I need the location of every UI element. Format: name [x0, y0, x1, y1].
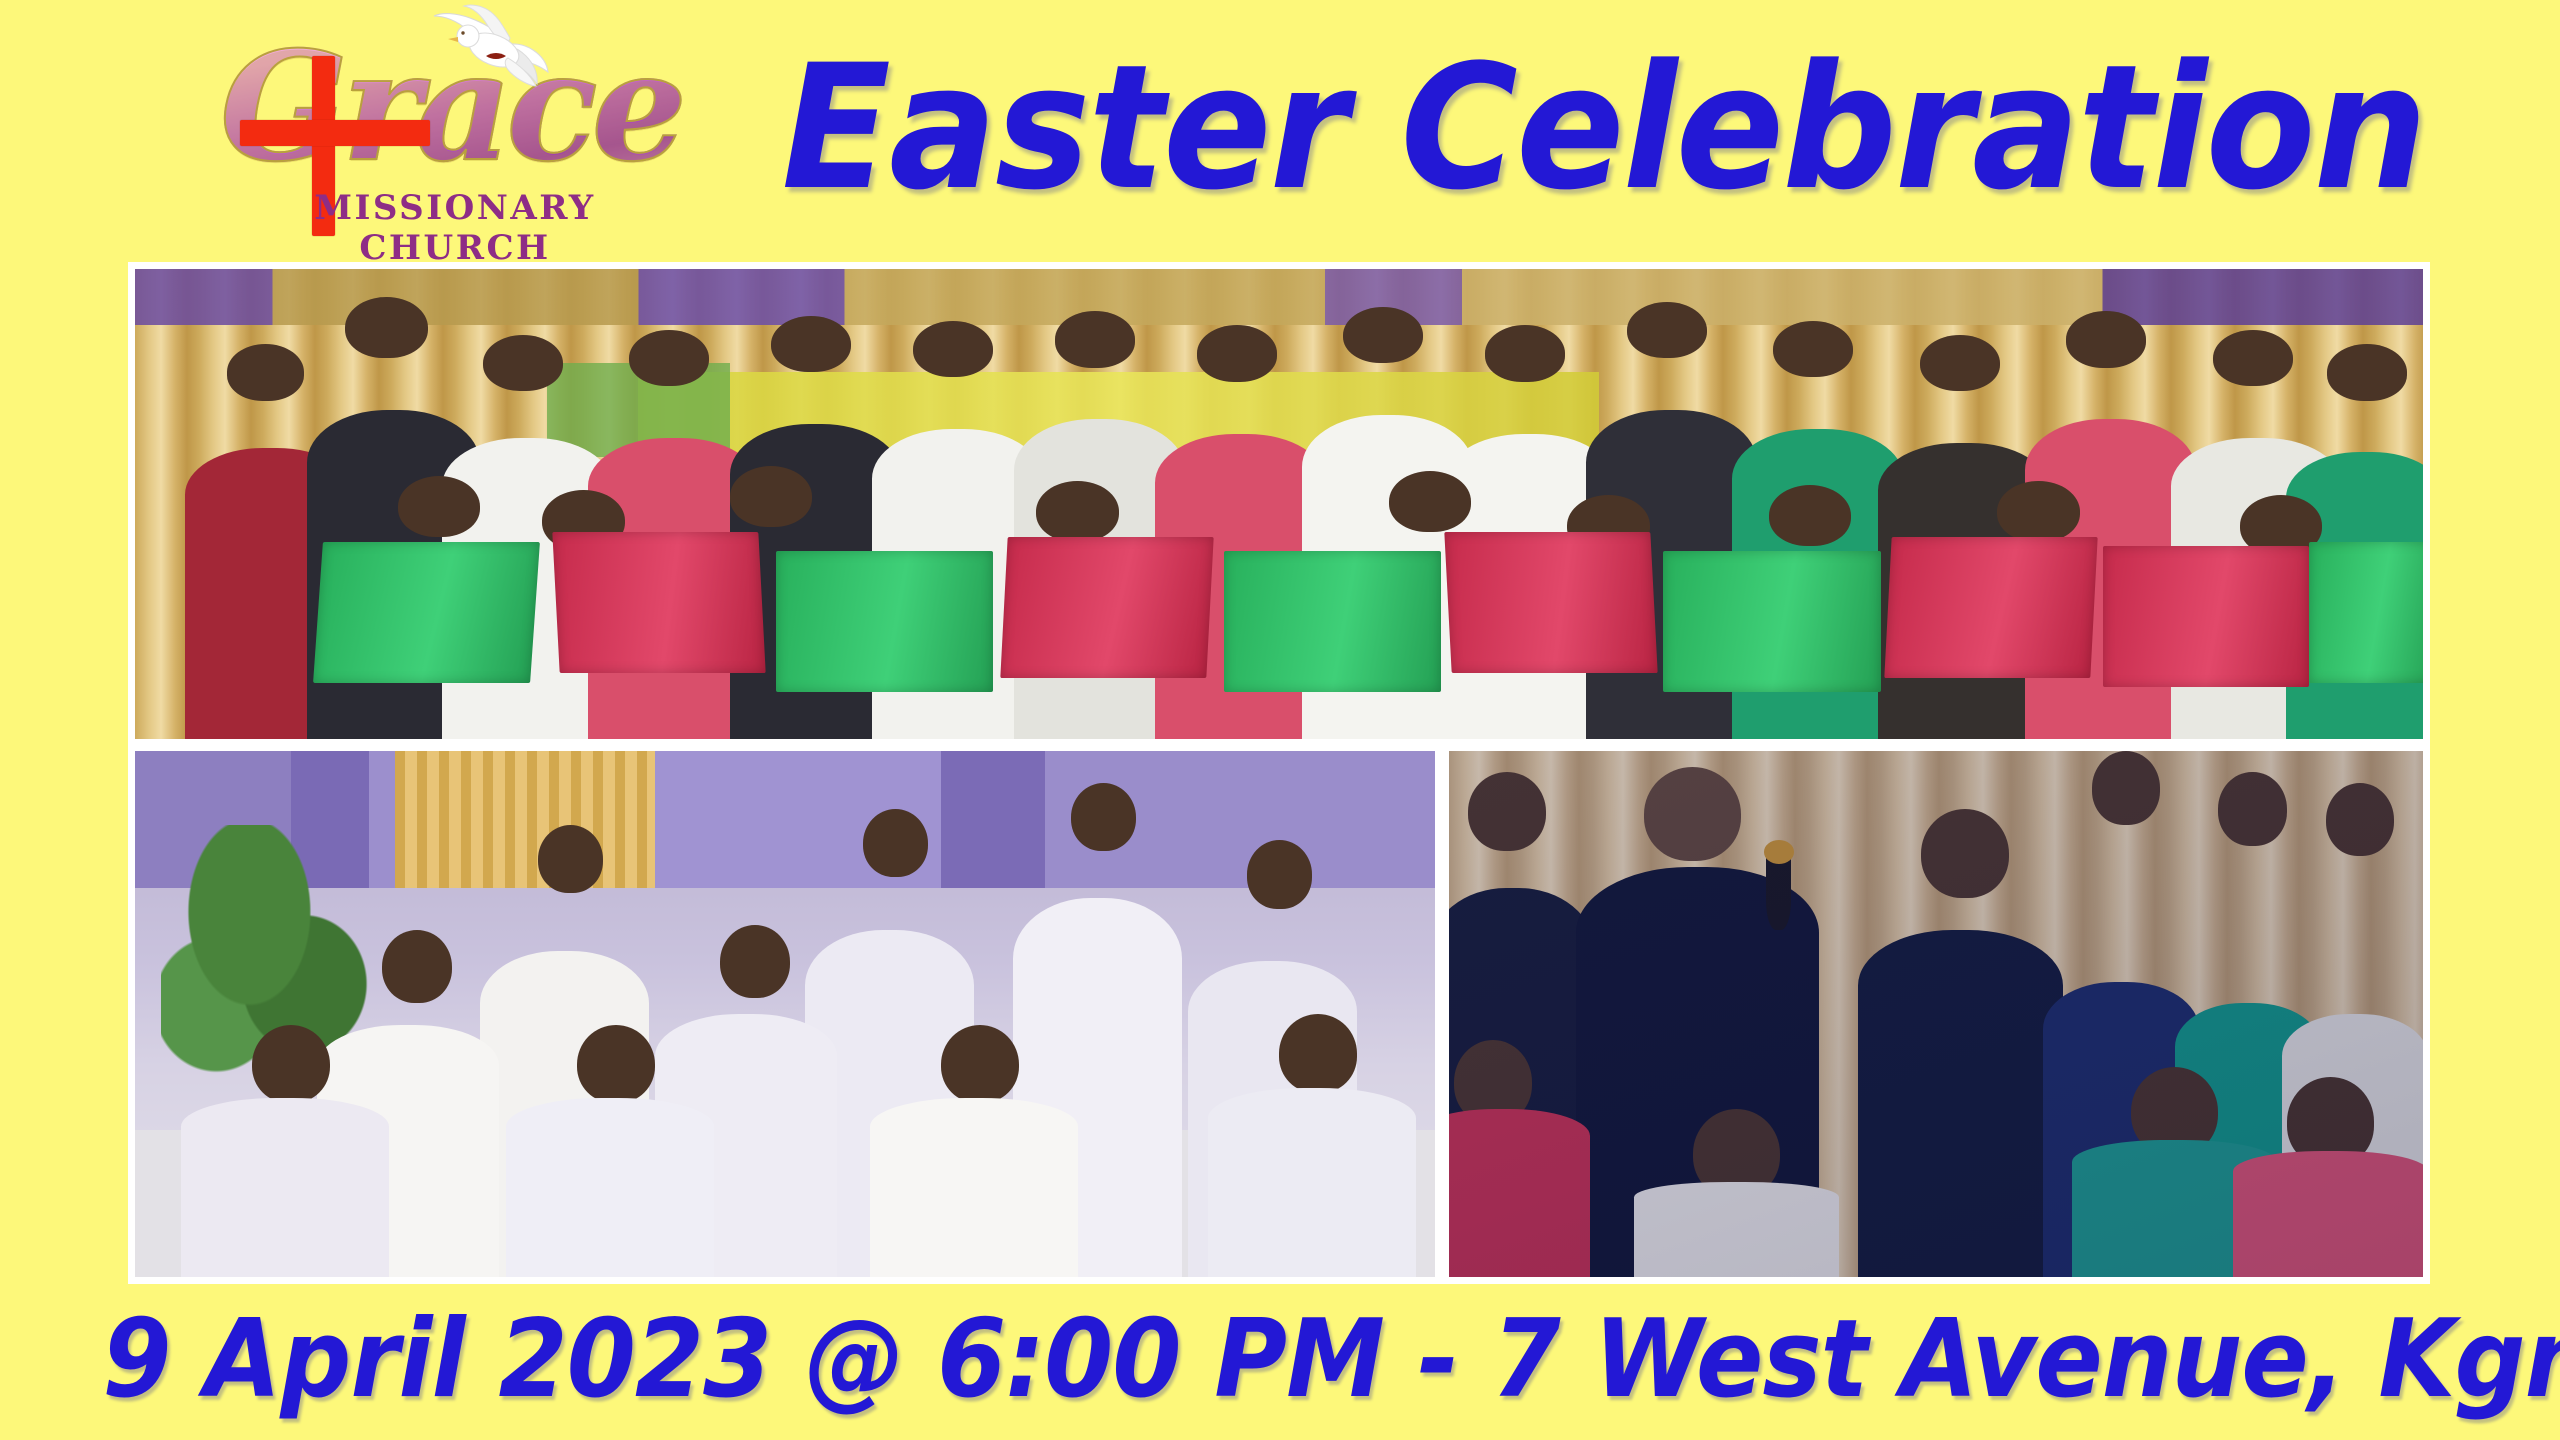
event-details: 9 April 2023 @ 6:00 PM - 7 West Avenue, … — [102, 1296, 2457, 1424]
logo-wordmark: Grace — [220, 12, 690, 202]
easter-celebration-flyer: Grace MISSIONARY CHURCH Easter Celebrati… — [0, 0, 2560, 1440]
cross-icon-crossbar — [240, 120, 430, 146]
collage-row-bottom — [135, 751, 2423, 1277]
photo-children-choir — [135, 269, 2423, 739]
photo-collage — [128, 262, 2430, 1284]
logo-subtitle: MISSIONARY CHURCH — [222, 188, 688, 268]
photo-soloist — [1449, 751, 2423, 1277]
choir-members — [135, 269, 2423, 739]
collage-row-top — [135, 269, 2423, 739]
adult-choir-members — [135, 751, 1435, 1277]
page-title: Easter Celebration — [782, 38, 2419, 218]
church-logo: Grace MISSIONARY CHURCH — [220, 2, 690, 247]
photo-adult-choir — [135, 751, 1435, 1277]
